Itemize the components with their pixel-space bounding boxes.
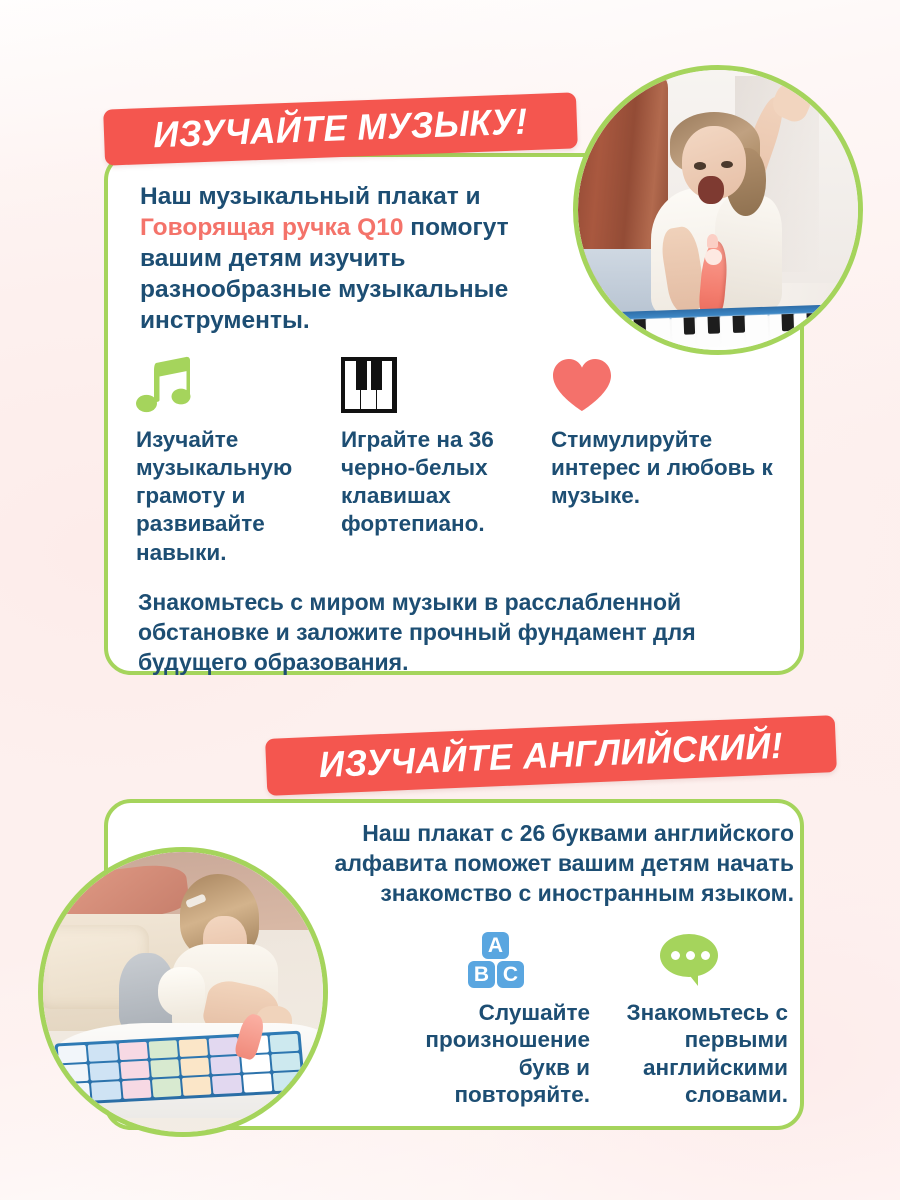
english-photo-image (43, 852, 323, 1132)
english-feature-2: Знакомьтесь с первыми английскими словам… (590, 927, 788, 1109)
alphabet-tile (150, 1059, 180, 1078)
english-photo (38, 847, 328, 1137)
alphabet-tile (273, 1072, 303, 1091)
alphabet-tile (59, 1064, 89, 1083)
english-feature-row: A B C Слушайте произношение букв и повто… (400, 927, 788, 1109)
english-banner-text: ИЗУЧАЙТЕ АНГЛИЙСКИЙ! (318, 725, 784, 786)
music-feature-2-label: Играйте на 36 черно-белых клавишах форте… (341, 426, 551, 539)
music-photo (573, 65, 863, 355)
piano-keys-icon (341, 352, 551, 418)
alphabet-tile (270, 1034, 300, 1053)
abc-block-c: C (497, 961, 524, 988)
music-intro-paragraph: Наш музыкальный плакат и Говорящая ручка… (140, 181, 560, 337)
alphabet-tile (179, 1038, 209, 1057)
alphabet-tile (122, 1080, 152, 1099)
alphabet-tile (118, 1042, 148, 1061)
alphabet-tile (90, 1062, 120, 1081)
alphabet-tile (152, 1078, 182, 1097)
english-intro-paragraph: Наш плакат с 26 буквами английского алфа… (284, 819, 794, 909)
music-intro-line1: Наш музыкальный плакат и (140, 183, 481, 210)
speech-bubble-icon (590, 927, 788, 995)
abc-blocks-icon: A B C (400, 927, 590, 995)
music-feature-3-label: Стимулируйте интерес и любовь к музыке. (551, 426, 786, 510)
english-banner: ИЗУЧАЙТЕ АНГЛИЙСКИЙ! (265, 715, 837, 796)
music-note-icon (136, 352, 341, 418)
alphabet-tile (120, 1061, 150, 1080)
alphabet-tile (209, 1037, 239, 1056)
music-feature-1: Изучайте музыкальную грамоту и развивайт… (136, 352, 341, 567)
music-feature-row: Изучайте музыкальную грамоту и развивайт… (136, 352, 786, 567)
alphabet-tile (243, 1073, 273, 1092)
english-feature-1-label: Слушайте произношение букв и повторяйте. (400, 999, 590, 1109)
alphabet-tile (182, 1077, 212, 1096)
english-feature-1: A B C Слушайте произношение букв и повто… (400, 927, 590, 1109)
music-photo-image (578, 70, 858, 350)
alphabet-tile (88, 1043, 118, 1062)
alphabet-tile (61, 1083, 91, 1102)
alphabet-tile (212, 1075, 242, 1094)
alphabet-tile (91, 1081, 121, 1100)
promo-page: ИЗУЧАЙТЕ МУЗЫКУ! На (0, 0, 900, 1200)
alphabet-tile (148, 1040, 178, 1059)
music-banner-text: ИЗУЧАЙТЕ МУЗЫКУ! (153, 101, 529, 156)
abc-block-b: B (468, 961, 495, 988)
alphabet-tile (58, 1045, 88, 1064)
abc-block-a: A (482, 932, 509, 959)
music-feature-3: Стимулируйте интерес и любовь к музыке. (551, 352, 786, 567)
music-feature-1-label: Изучайте музыкальную грамоту и развивайт… (136, 426, 341, 567)
talking-pen-highlight: Говорящая ручка Q10 (140, 214, 403, 241)
music-outro-paragraph: Знакомьтесь с миром музыки в расслабленн… (138, 588, 778, 678)
music-feature-2: Играйте на 36 черно-белых клавишах форте… (341, 352, 551, 567)
alphabet-tile (271, 1053, 301, 1072)
alphabet-tile (211, 1056, 241, 1075)
alphabet-tile (180, 1057, 210, 1076)
heart-icon (551, 352, 786, 418)
english-feature-2-label: Знакомьтесь с первыми английскими словам… (590, 999, 788, 1109)
